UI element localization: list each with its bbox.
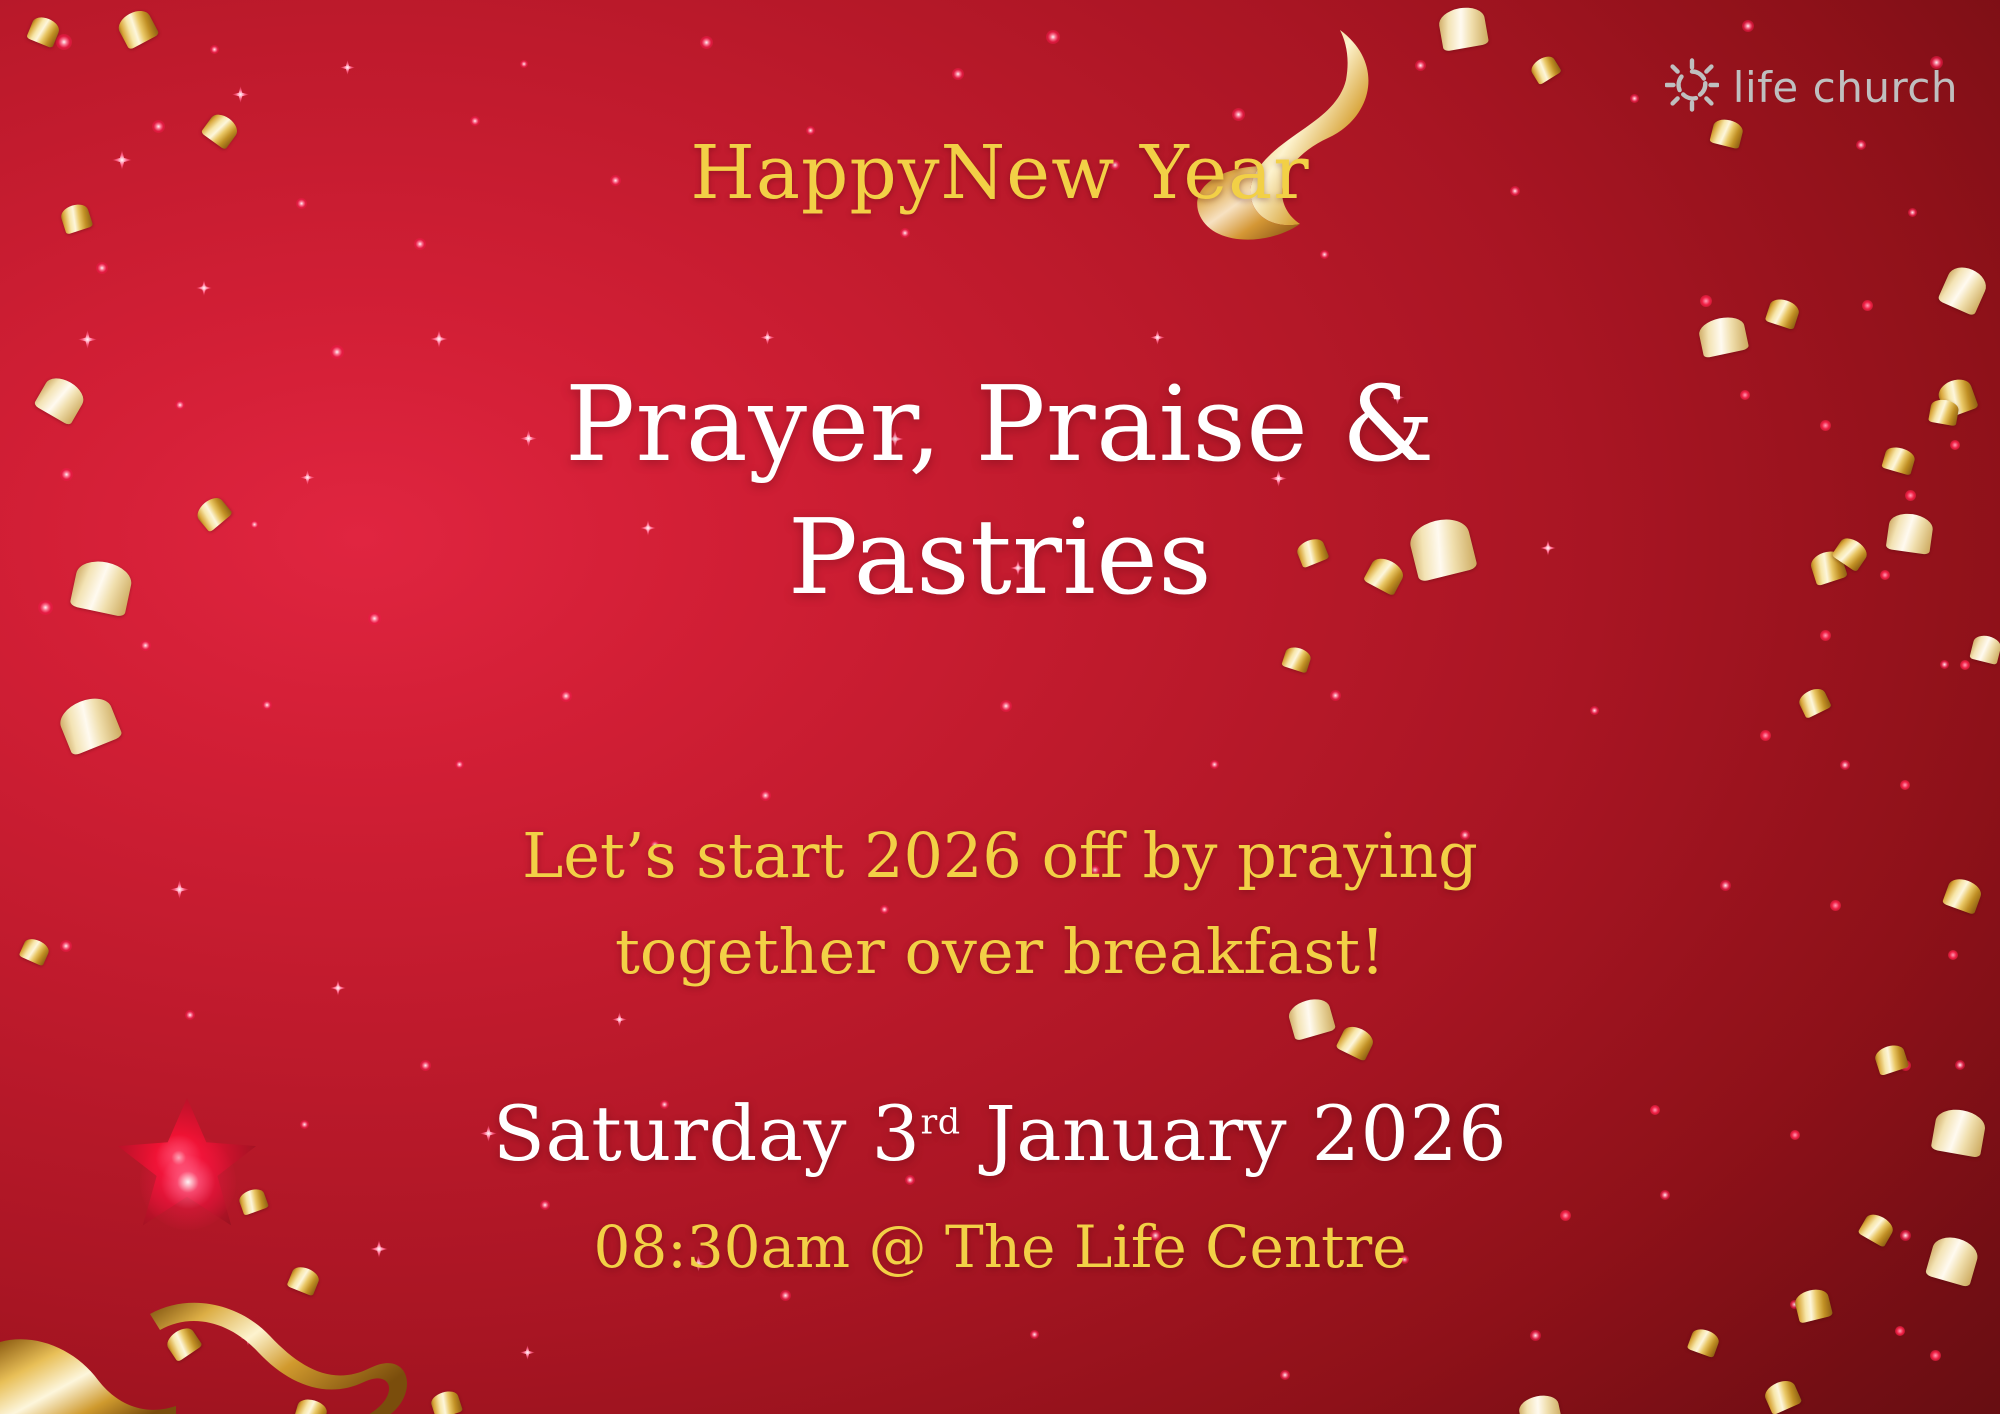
event-date: Saturday 3rd January 2026 bbox=[0, 1092, 2000, 1176]
event-time-and-venue: 08:30am @ The Life Centre bbox=[0, 1216, 2000, 1280]
event-date-month-year: January 2026 bbox=[961, 1089, 1507, 1178]
event-date-prefix: Saturday 3 bbox=[493, 1089, 921, 1178]
event-title-line-1: Prayer, Praise & bbox=[0, 358, 2000, 491]
life-church-logo-text: life church bbox=[1733, 63, 1958, 112]
event-date-ordinal-suffix: rd bbox=[921, 1103, 961, 1143]
new-year-event-poster: HappyNew Year Prayer, Praise & Pastries … bbox=[0, 0, 2000, 1414]
life-church-logo: life church bbox=[1665, 58, 1958, 116]
greeting-text: HappyNew Year bbox=[0, 136, 2000, 210]
event-title: Prayer, Praise & Pastries bbox=[0, 358, 2000, 624]
event-description: Let’s start 2026 off by praying together… bbox=[0, 808, 2000, 1000]
sunburst-circle-icon bbox=[1665, 58, 1719, 116]
event-description-line-2: together over breakfast! bbox=[0, 904, 2000, 1000]
poster-content: HappyNew Year Prayer, Praise & Pastries … bbox=[0, 0, 2000, 1414]
event-title-line-2: Pastries bbox=[0, 491, 2000, 624]
event-description-line-1: Let’s start 2026 off by praying bbox=[0, 808, 2000, 904]
